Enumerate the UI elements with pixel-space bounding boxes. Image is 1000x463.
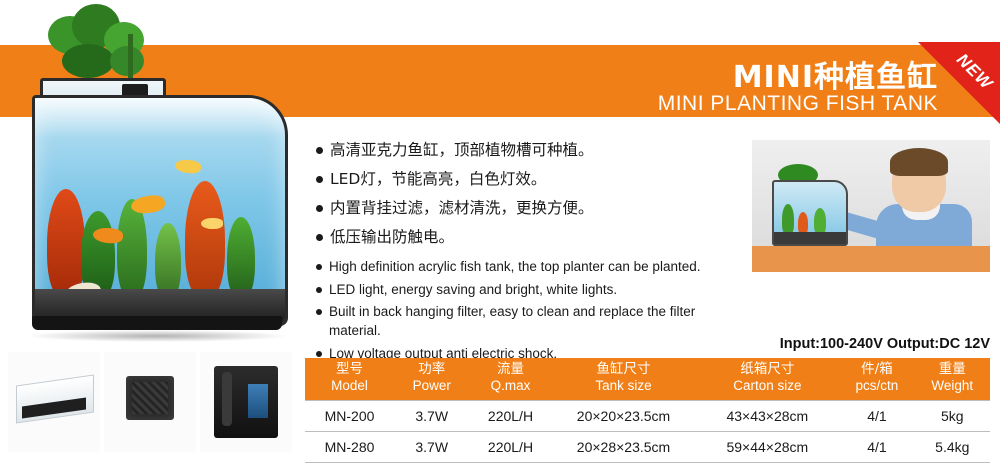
cell-qmax: 220L/H <box>469 400 551 431</box>
table-header-qmax-cn: 流量 <box>471 361 549 378</box>
goldfish-2 <box>174 159 201 175</box>
feature-en-3: Built in back hanging filter, easy to cl… <box>316 303 746 341</box>
table-header-power: 功率 Power <box>394 358 469 400</box>
feature-cn-1-text: 高清亚克力鱼缸，顶部植物槽可种植。 <box>330 140 594 161</box>
feature-en-3-text: Built in back hanging filter, easy to cl… <box>329 303 746 341</box>
feature-en-2: LED light, energy saving and bright, whi… <box>316 281 746 300</box>
boy-hair <box>890 148 948 176</box>
table-header-model-cn: 型号 <box>307 361 392 378</box>
bullet-icon <box>316 351 322 357</box>
table-header-model-en: Model <box>307 378 392 395</box>
photo-plant-3 <box>814 208 826 234</box>
power-spec-label: Input:100-240V Output:DC 12V <box>780 336 990 352</box>
acrylic-tank-body <box>32 95 288 326</box>
cell-model: MN-200 <box>305 400 394 431</box>
photo-gravel <box>774 232 846 244</box>
tank-drop-shadow <box>24 330 290 342</box>
accessory-thumb-pump <box>200 352 292 452</box>
feature-cn-4-text: 低压输出防触电。 <box>330 227 454 248</box>
bullet-icon <box>316 309 322 315</box>
new-badge: NEW <box>914 42 1000 128</box>
table-header-weight-en: Weight <box>917 378 988 395</box>
table-header-tank-size: 鱼缸尺寸 Tank size <box>552 358 696 400</box>
table-header-pcs-per-ctn-en: pcs/ctn <box>841 378 912 395</box>
accessory-thumbnails <box>4 352 300 457</box>
planter-foliage-4 <box>62 44 114 78</box>
table-header-qmax-en: Q.max <box>471 378 549 395</box>
table-header-row: 型号 Model 功率 Power 流量 Q.max 鱼缸尺寸 Tank siz… <box>305 358 990 400</box>
aquarium-plant-red-2 <box>185 181 225 299</box>
filter-sponge-part <box>126 376 174 420</box>
goldfish-1 <box>130 194 166 216</box>
cell-power: 3.7W <box>394 431 469 462</box>
lifestyle-image <box>752 140 990 272</box>
photo-plant-2 <box>798 212 808 234</box>
table-header-weight: 重量 Weight <box>915 358 990 400</box>
aquarium-plant-green-3 <box>155 223 181 299</box>
table-header-pcs-per-ctn-cn: 件/箱 <box>841 361 912 378</box>
photo-plant-1 <box>782 204 794 234</box>
feature-list: 高清亚克力鱼缸，顶部植物槽可种植。 LED灯，节能高亮，白色灯效。 内置背挂过滤… <box>316 140 746 368</box>
goldfish-4 <box>201 218 223 229</box>
feature-cn-4: 低压输出防触电。 <box>316 227 746 248</box>
feature-en-1-text: High definition acrylic fish tank, the t… <box>329 258 700 277</box>
feature-list-en: High definition acrylic fish tank, the t… <box>316 258 746 364</box>
table-header-carton-size-cn: 纸箱尺寸 <box>697 361 837 378</box>
table-header-carton-size-en: Carton size <box>697 378 837 395</box>
cell-weight: 5kg <box>915 400 990 431</box>
table-header-carton-size: 纸箱尺寸 Carton size <box>695 358 839 400</box>
table-header-model: 型号 Model <box>305 358 394 400</box>
aquarium-plant-green-4 <box>227 217 255 299</box>
cell-carton-size: 43×43×28cm <box>695 400 839 431</box>
bullet-icon <box>316 287 322 293</box>
table-row: MN-280 3.7W 220L/H 20×28×23.5cm 59×44×28… <box>305 431 990 462</box>
cell-tank-size: 20×20×23.5cm <box>552 400 696 431</box>
feature-en-1: High definition acrylic fish tank, the t… <box>316 258 746 277</box>
photo-table-surface <box>752 246 990 272</box>
specification-table: 型号 Model 功率 Power 流量 Q.max 鱼缸尺寸 Tank siz… <box>305 358 990 463</box>
feature-cn-3-text: 内置背挂过滤，滤材清洗，更换方便。 <box>330 198 594 219</box>
table-header-tank-size-en: Tank size <box>554 378 694 395</box>
bullet-icon <box>316 264 322 270</box>
cell-pcs-per-ctn: 4/1 <box>839 431 914 462</box>
table-header-power-en: Power <box>396 378 467 395</box>
cell-tank-size: 20×28×23.5cm <box>552 431 696 462</box>
cell-power: 3.7W <box>394 400 469 431</box>
feature-cn-3: 内置背挂过滤，滤材清洗，更换方便。 <box>316 198 746 219</box>
table-row: MN-200 3.7W 220L/H 20×20×23.5cm 43×43×28… <box>305 400 990 431</box>
cell-model: MN-280 <box>305 431 394 462</box>
bullet-icon <box>316 234 323 241</box>
table-header-pcs-per-ctn: 件/箱 pcs/ctn <box>839 358 914 400</box>
table-header-qmax: 流量 Q.max <box>469 358 551 400</box>
bullet-icon <box>316 205 323 212</box>
water-surface-sheen <box>35 98 285 138</box>
cell-qmax: 220L/H <box>469 431 551 462</box>
pump-tube <box>222 372 232 426</box>
table-header-tank-size-cn: 鱼缸尺寸 <box>554 361 694 378</box>
tank-base <box>32 316 282 330</box>
aquarium-plant-green-2 <box>117 199 147 299</box>
feature-cn-2-text: LED灯，节能高亮，白色灯效。 <box>330 169 546 190</box>
accessory-thumb-lid <box>8 352 100 452</box>
photo-mini-tank <box>772 180 848 246</box>
feature-cn-1: 高清亚克力鱼缸，顶部植物槽可种植。 <box>316 140 746 161</box>
cell-weight: 5.4kg <box>915 431 990 462</box>
accessory-thumb-sponge <box>104 352 196 452</box>
feature-en-2-text: LED light, energy saving and bright, whi… <box>329 281 617 300</box>
filter-pump-part <box>214 366 278 438</box>
main-product-image <box>10 0 310 345</box>
cell-pcs-per-ctn: 4/1 <box>839 400 914 431</box>
bullet-icon <box>316 176 323 183</box>
bullet-icon <box>316 147 323 154</box>
planter-foliage-5 <box>110 46 144 76</box>
table-header-power-cn: 功率 <box>396 361 467 378</box>
table-header-weight-cn: 重量 <box>917 361 988 378</box>
pump-blue-panel <box>248 384 268 418</box>
cell-carton-size: 59×44×28cm <box>695 431 839 462</box>
product-title-cn: MINI种植鱼缸 <box>733 52 938 96</box>
product-title-en: MINI PLANTING FISH TANK <box>658 92 938 116</box>
feature-cn-2: LED灯，节能高亮，白色灯效。 <box>316 169 746 190</box>
